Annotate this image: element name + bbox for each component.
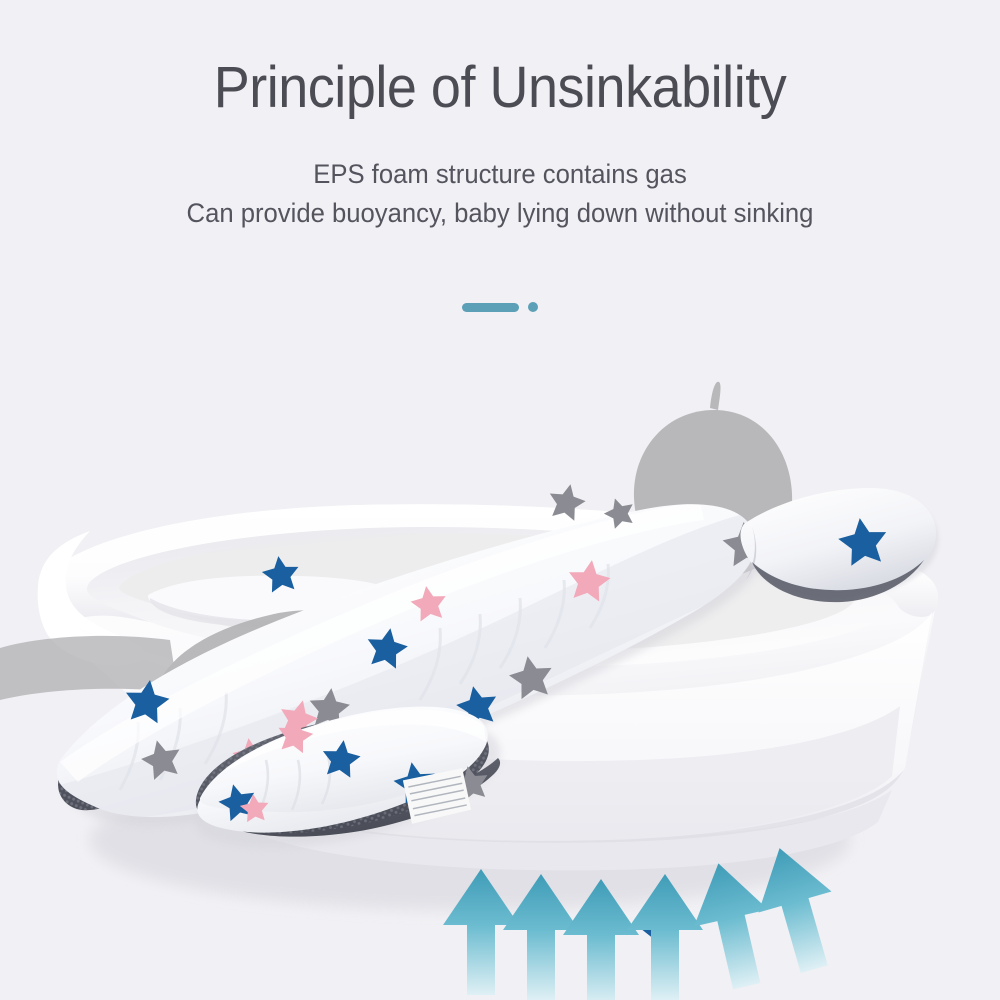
page-title: Principle of Unsinkability [35,0,965,119]
subtitle-line-2: Can provide buoyancy, baby lying down wi… [25,194,975,233]
divider-dot-icon [528,302,538,312]
divider-bar-icon [462,303,519,312]
header-block: Principle of Unsinkability EPS foam stru… [0,0,1000,233]
subtitle-line-1: EPS foam structure contains gas [25,155,975,194]
baby-hair-curl [710,382,721,410]
infographic-page: Principle of Unsinkability EPS foam stru… [0,0,1000,1000]
product-illustration [0,370,1000,1000]
subtitle-block: EPS foam structure contains gas Can prov… [25,119,975,233]
decorative-divider [0,297,1000,317]
